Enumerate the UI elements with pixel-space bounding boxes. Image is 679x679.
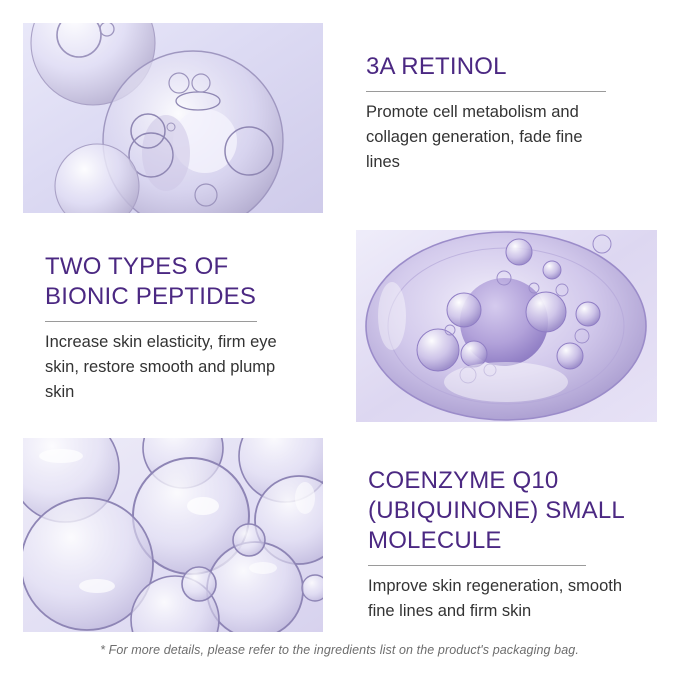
heading-coenzyme-q10: COENZYME Q10 (UBIQUINONE) SMALL MOLECULE xyxy=(368,466,640,556)
description-bionic-peptides: Increase skin elasticity, firm eye skin,… xyxy=(45,330,305,405)
divider-coq10 xyxy=(368,565,586,566)
ingredient-block-coq10: COENZYME Q10 (UBIQUINONE) SMALL MOLECULE… xyxy=(368,466,640,624)
bubbles-foam-honeycomb-image xyxy=(23,438,323,632)
bubbles-purple-cluster-art xyxy=(356,230,657,422)
heading-bionic-peptides: TWO TYPES OF BIONIC PEPTIDES xyxy=(45,252,305,312)
bubbles-large-spheres-image xyxy=(23,23,323,213)
ingredient-block-retinol: 3A RETINOL Promote cell metabolism and c… xyxy=(366,52,614,175)
ingredient-block-peptides: TWO TYPES OF BIONIC PEPTIDES Increase sk… xyxy=(45,252,305,405)
bubbles-foam-honeycomb-art xyxy=(23,438,323,632)
description-coenzyme-q10: Improve skin regeneration, smooth fine l… xyxy=(368,574,640,624)
bubbles-purple-cluster-image xyxy=(356,230,657,422)
infographic-sheet: 3A RETINOL Promote cell metabolism and c… xyxy=(0,0,679,679)
footnote-disclaimer: * For more details, please refer to the … xyxy=(0,643,679,657)
bubbles-large-spheres-art xyxy=(23,23,323,213)
heading-3a-retinol: 3A RETINOL xyxy=(366,52,614,82)
description-3a-retinol: Promote cell metabolism and collagen gen… xyxy=(366,100,614,175)
divider-retinol xyxy=(366,91,606,92)
divider-peptides xyxy=(45,321,257,322)
